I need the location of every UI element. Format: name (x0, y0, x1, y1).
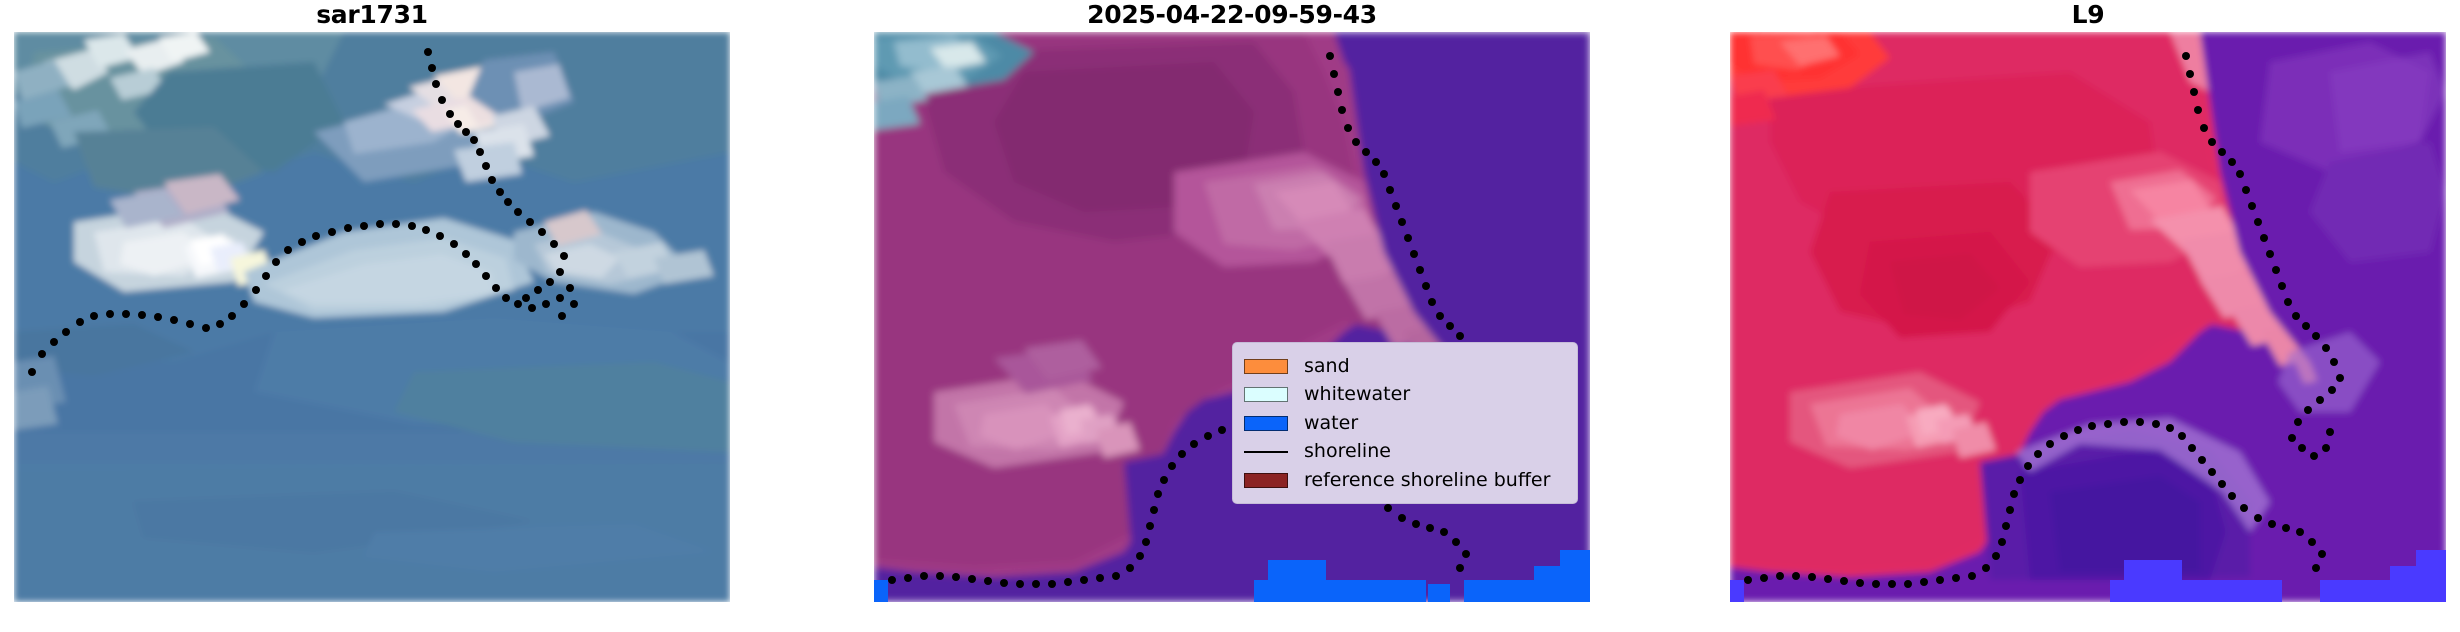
legend-label: shoreline (1304, 442, 1391, 461)
classification-raster (874, 32, 1590, 602)
panel-classification: 2025-04-22-09-59-43 (874, 0, 1590, 632)
panel-image-truecolor (14, 32, 730, 602)
legend-label: water (1304, 414, 1358, 433)
sand-swatch (1244, 359, 1288, 374)
panel-sar1731: sar1731 (14, 0, 730, 632)
panel-title: 2025-04-22-09-59-43 (874, 0, 1590, 32)
legend-item-shoreline: shoreline (1244, 438, 1565, 467)
panel-l9: L9 (1730, 0, 2446, 632)
panel-title: L9 (1730, 0, 2446, 32)
legend-label: whitewater (1304, 385, 1410, 404)
legend-item-reference-shoreline-buffer: reference shoreline buffer (1244, 466, 1565, 495)
panel-title: sar1731 (14, 0, 730, 32)
legend-label: sand (1304, 357, 1350, 376)
legend-item-water: water (1244, 409, 1565, 438)
truecolor-raster (14, 32, 730, 602)
legend-item-sand: sand (1244, 352, 1565, 381)
legend-item-whitewater: whitewater (1244, 381, 1565, 410)
water-swatch (1244, 416, 1288, 431)
legend-label: reference shoreline buffer (1304, 471, 1550, 490)
legend: sand whitewater water shoreline referenc… (1232, 342, 1578, 504)
falsecolor-raster (1730, 32, 2446, 602)
figure-canvas: sar1731 (0, 0, 2460, 632)
whitewater-swatch (1244, 387, 1288, 402)
panel-image-classification (874, 32, 1590, 602)
panel-image-falsecolor (1730, 32, 2446, 602)
shoreline-line-swatch (1244, 444, 1288, 459)
reference-shoreline-buffer-swatch (1244, 473, 1288, 488)
